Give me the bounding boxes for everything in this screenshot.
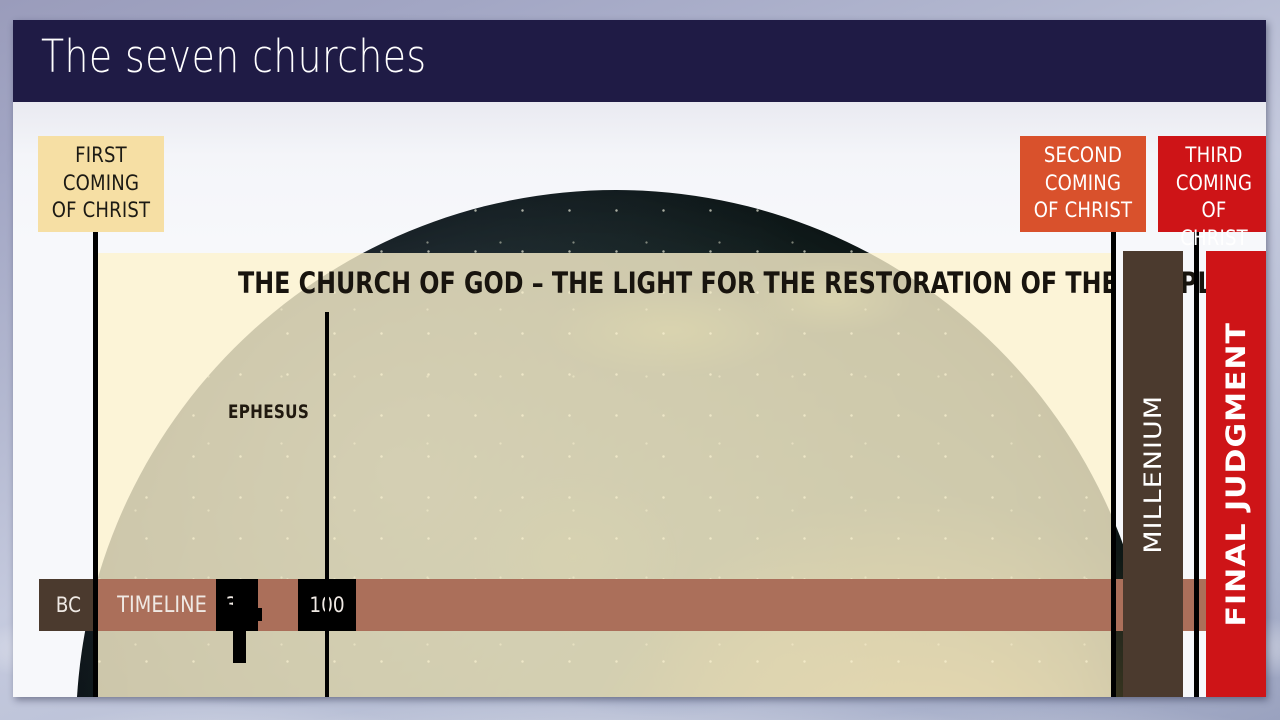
callout-second-line3: OF CHRIST <box>1029 197 1137 225</box>
marker-line-first-coming <box>93 232 98 697</box>
section-heading: THE CHURCH OF GOD – THE LIGHT FOR THE RE… <box>238 266 976 300</box>
callout-second-line1: SECOND <box>1029 142 1137 170</box>
callout-first-coming[interactable]: FIRST COMING OF CHRIST <box>38 136 164 232</box>
era-bar-final-judgment[interactable]: FINAL JUDGMENT <box>1206 251 1266 697</box>
slide-body: THE CHURCH OF GOD – THE LIGHT FOR THE RE… <box>13 102 1266 697</box>
callout-second-coming[interactable]: SECOND COMING OF CHRIST <box>1020 136 1146 232</box>
callout-third-coming[interactable]: THIRD COMING OF CHRIST <box>1158 136 1266 232</box>
callout-third-line2: COMING <box>1166 170 1262 198</box>
church-label-ephesus: EPHESUS <box>228 401 309 423</box>
slide-title-bar: The seven churches <box>13 20 1266 102</box>
timeline-strip: BC TIMELINE 31 100 <box>26 579 1266 631</box>
callout-third-line1: THIRD <box>1166 142 1262 170</box>
cross-vertical-bar <box>233 591 246 663</box>
marker-line-ephesus <box>325 312 329 697</box>
marker-line-second-coming <box>1111 232 1116 697</box>
callout-first-line2: COMING <box>47 170 155 198</box>
timeline-bc-label: BC <box>55 593 80 617</box>
era-bar-millenium-label: MILLENIUM <box>1139 395 1166 554</box>
cross-icon <box>216 591 262 663</box>
callout-second-line2: COMING <box>1029 170 1137 198</box>
cross-horizontal-bar <box>216 608 262 621</box>
callout-first-line3: OF CHRIST <box>47 197 155 225</box>
timeline-title-label: TIMELINE <box>117 593 207 618</box>
era-bar-final-judgment-label: FINAL JUDGMENT <box>1221 322 1252 627</box>
callout-first-line1: FIRST <box>47 142 155 170</box>
timeline-bc-box: BC <box>39 579 97 631</box>
page-title: The seven churches <box>41 30 427 83</box>
era-bar-millenium[interactable]: MILLENIUM <box>1123 251 1183 697</box>
presentation-backdrop: The seven churches THE CHURCH OF GOD – T… <box>0 0 1280 720</box>
slide-canvas: The seven churches THE CHURCH OF GOD – T… <box>13 20 1266 697</box>
marker-line-third-coming <box>1194 232 1199 697</box>
callout-third-line3: OF CHRIST <box>1166 197 1262 252</box>
